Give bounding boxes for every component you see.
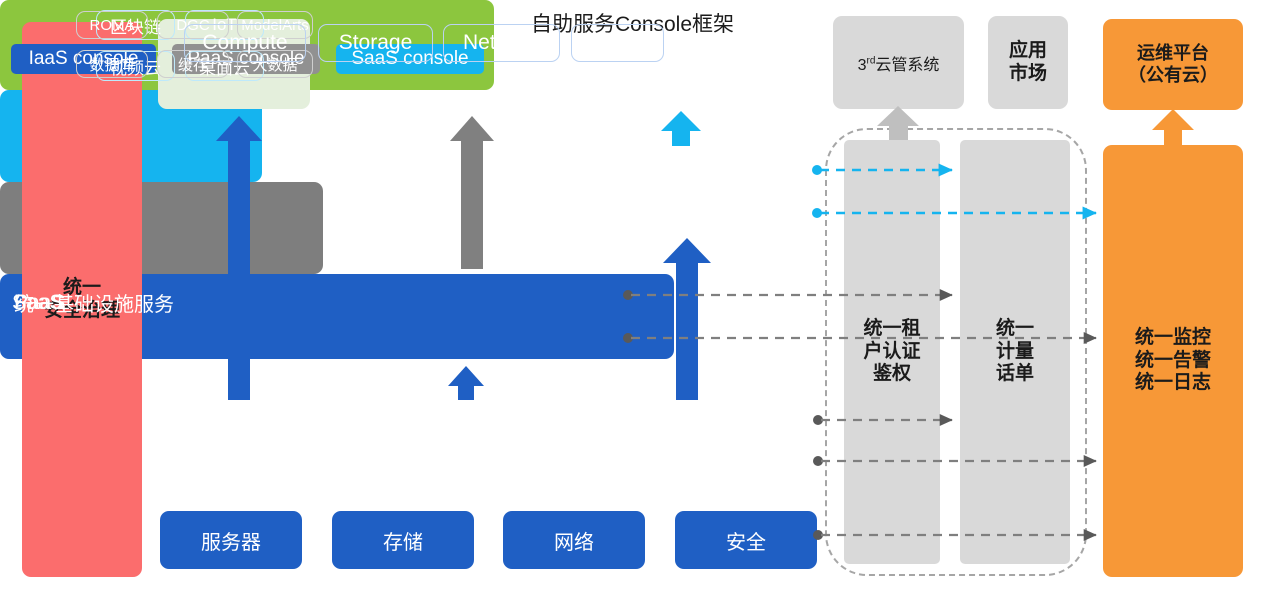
unified-monitoring-column[interactable]: 统一监控 统一告警 统一日志 <box>1103 145 1243 577</box>
hardware-server-box[interactable]: 服务器 <box>160 511 302 569</box>
arrow-infra-to-paas <box>448 366 484 400</box>
unified-metering-label: 统一 计量 话单 <box>996 318 1034 385</box>
unified-tenant-auth-strip[interactable]: 统一租 户认证 鉴权 <box>844 140 940 564</box>
infra-item-storage[interactable]: Storage <box>318 24 433 62</box>
unified-infrastructure-service-bar[interactable]: 统一基础设施服务 Compute Storage Network CCE <box>0 274 674 359</box>
unified-monitoring-label: 统一监控 统一告警 统一日志 <box>1135 327 1211 394</box>
unified-infrastructure-label: 统一基础设施服务 <box>14 0 174 605</box>
hardware-storage-box[interactable]: 存储 <box>332 511 474 569</box>
hardware-storage-label: 存储 <box>383 526 423 555</box>
arrow-ops-column-to-ops-platform <box>1152 109 1194 145</box>
third-party-cloud-management-label: 3rd云管系统 <box>858 51 940 75</box>
arrow-paas-to-console <box>450 116 494 269</box>
arrow-saas-to-saas-console <box>661 111 701 146</box>
infra-item-compute[interactable]: Compute <box>184 24 306 62</box>
app-market-label: 应用 市场 <box>1009 40 1047 85</box>
hardware-security-box[interactable]: 安全 <box>675 511 817 569</box>
infra-item-cce[interactable]: CCE <box>571 24 664 62</box>
hardware-security-label: 安全 <box>726 526 766 555</box>
ops-platform-public-cloud-box[interactable]: 运维平台 （公有云） <box>1103 19 1243 110</box>
app-market-box[interactable]: 应用 市场 <box>988 16 1068 109</box>
unified-tenant-auth-label: 统一租 户认证 鉴权 <box>863 318 920 385</box>
ops-platform-label: 运维平台 （公有云） <box>1128 43 1218 85</box>
third-party-cloud-management-box[interactable]: 3rd云管系统 <box>833 16 964 109</box>
hardware-network-box[interactable]: 网络 <box>503 511 645 569</box>
unified-metering-strip[interactable]: 统一 计量 话单 <box>960 140 1070 564</box>
infra-item-network[interactable]: Network <box>443 24 560 62</box>
architecture-diagram: 统一租 户认证 鉴权 统一 计量 话单 统一 安全治理 API网关 自助服务Co… <box>0 0 1265 605</box>
hardware-server-label: 服务器 <box>201 526 261 555</box>
hardware-network-label: 网络 <box>554 526 594 555</box>
